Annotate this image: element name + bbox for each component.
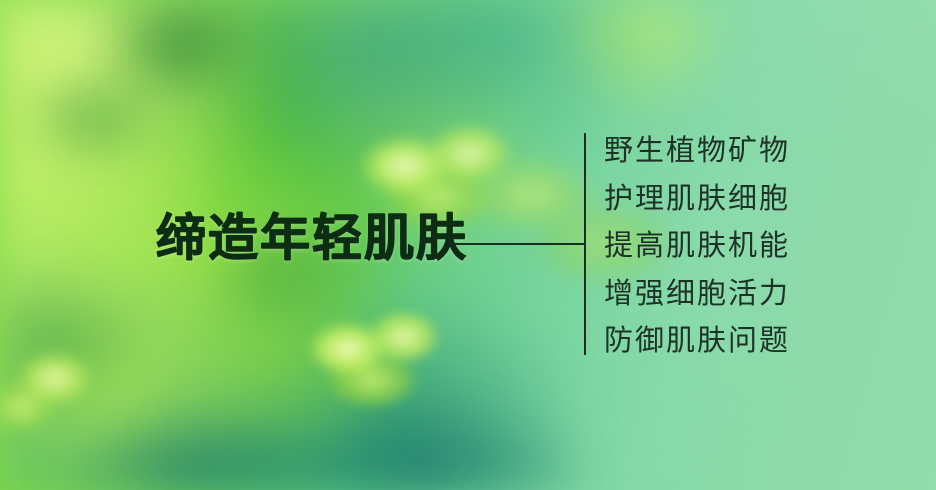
feature-list-item: 护理肌肤细胞 — [604, 176, 790, 224]
banner-content: 缔造年轻肌肤 野生植物矿物 护理肌肤细胞 提高肌肤机能 增强细胞活力 防御肌肤问… — [0, 0, 936, 490]
feature-list-item: 提高肌肤机能 — [604, 223, 790, 271]
feature-list-item: 增强细胞活力 — [604, 271, 790, 319]
feature-list-item: 防御肌肤问题 — [604, 318, 790, 366]
vertical-rule-divider — [584, 133, 586, 355]
feature-list-item: 野生植物矿物 — [604, 128, 790, 176]
feature-list: 野生植物矿物 护理肌肤细胞 提高肌肤机能 增强细胞活力 防御肌肤问题 — [604, 128, 790, 366]
banner-headline: 缔造年轻肌肤 — [156, 210, 468, 266]
promo-banner: 缔造年轻肌肤 野生植物矿物 护理肌肤细胞 提高肌肤机能 增强细胞活力 防御肌肤问… — [0, 0, 936, 490]
horizontal-rule-divider — [455, 243, 585, 245]
